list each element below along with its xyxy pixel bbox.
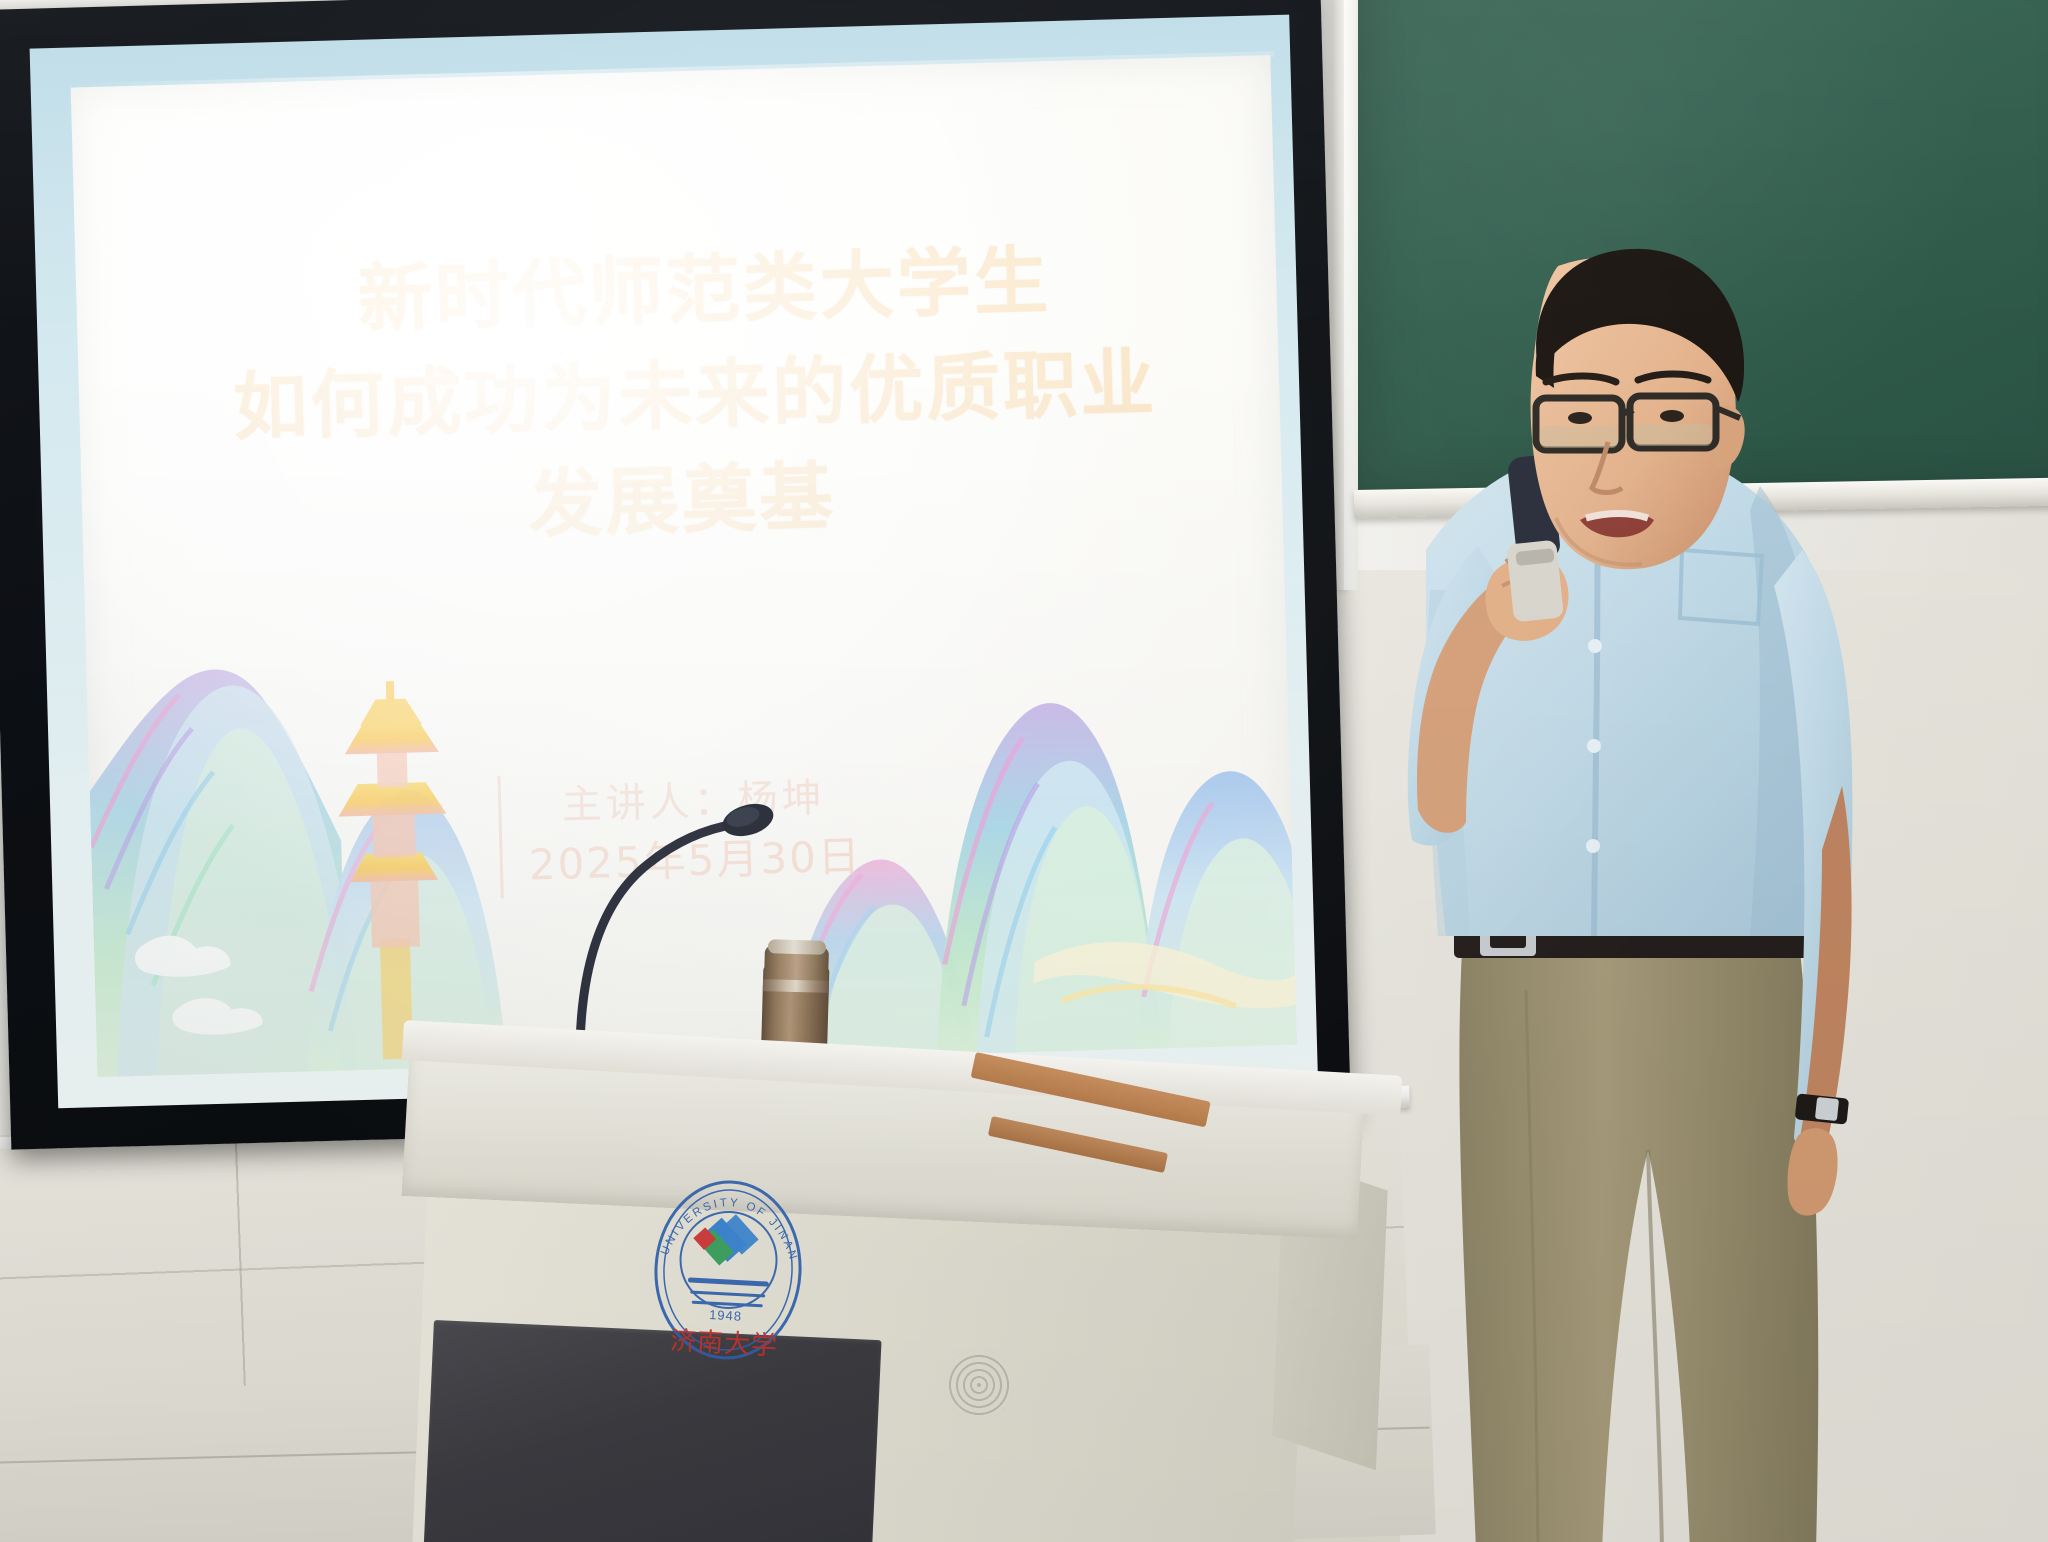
lectern: 1948 UNIVERSITY OF JINAN 济南大学	[404, 1020, 1404, 1542]
slide-title: 新时代师范类大学生 如何成功为未来的优质职业 发展奠基	[75, 223, 1283, 571]
lecture-hall-photo: 新时代师范类大学生 如何成功为未来的优质职业 发展奠基 主讲人：杨坤 2025年…	[0, 0, 2048, 1542]
emblem-chinese-name: 济南大学	[669, 1326, 778, 1362]
flask-lid	[768, 939, 826, 955]
university-emblem: 1948 UNIVERSITY OF JINAN 济南大学	[635, 1156, 821, 1385]
flask-ring	[763, 979, 829, 993]
speaker-trousers	[1459, 950, 1818, 1542]
speaker-person	[1330, 250, 2048, 1542]
emblem-year: 1948	[709, 1307, 743, 1324]
